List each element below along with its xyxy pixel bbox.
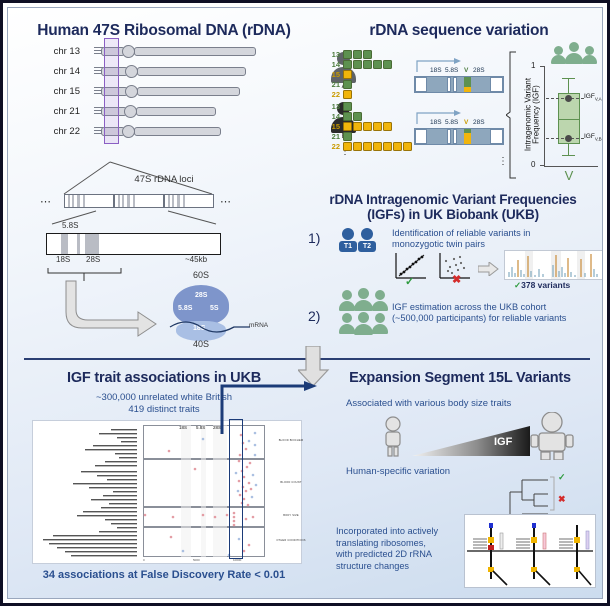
igf-va-point (565, 95, 572, 102)
trait-name-labels (37, 425, 141, 557)
panel-igf-title-2: (IGFs) in UK Biobank (UKB) (300, 207, 603, 222)
traits-scatter-plot: 18S 5.8S 28S (32, 420, 302, 564)
igf-label-sub: V,A (595, 96, 602, 101)
unit-label-18S: 18S (430, 67, 442, 74)
association-dots (143, 425, 265, 557)
result-count-text: 378 variants (521, 280, 570, 290)
loci-label: 47S rDNA loci (16, 174, 312, 185)
step-1-text: Identification of reliable variants in m… (392, 228, 602, 250)
es15l-line-3a: Incorporated into actively (336, 526, 466, 538)
twin-pair-icon: T1 T2 (338, 228, 386, 254)
cohort-people-icon (552, 42, 600, 64)
step-1-line-1: Identification of reliable variants in (392, 228, 602, 239)
grid-chr-num: 21 (328, 132, 340, 141)
variant-grid-person-a: 13 14 15 21 22 (338, 50, 408, 100)
igf-wedge-label: IGF (494, 436, 512, 448)
step-2-line-2: (~500,000 participants) for reliable var… (392, 313, 603, 324)
twin-concordance-good-plot: ✓ (392, 251, 432, 283)
chromosome-ideograms: chr 13 chr 14 chr 15 chr 21 chr 22 (16, 42, 312, 162)
panel-rdna-title: Human 47S Ribosomal DNA (rDNA) (16, 14, 312, 40)
igf-gradient-wedge (412, 426, 532, 460)
chr-label: chr 22 (36, 126, 80, 137)
category-label-blood-biochem: BLOOD BIOCHEM (267, 439, 315, 442)
rdna-unit-map-b: 18S 5.8S V 28S (414, 110, 504, 150)
category-label-body-size: BODY SIZE (267, 514, 315, 517)
igf-vb-point (565, 135, 572, 142)
step-2-line-1: IGF estimation across the UKB cohort (392, 302, 603, 313)
igf-boxplot: Intragenomic Variant Frequency (IGF) 1 0 (522, 42, 603, 190)
es15l-line-3c: with predicted 2D rRNA (336, 549, 466, 561)
rrna-2d-structure-inset (464, 514, 596, 588)
figure-canvas: Human 47S Ribosomal DNA (rDNA) chr 13 ch… (7, 7, 603, 599)
boxplot-ylabel: Intragenomic Variant Frequency (IGF) (520, 64, 534, 172)
label-40S: 40S (156, 339, 246, 349)
xtick-5000: 5000 (193, 558, 200, 562)
es15l-line-3d: structure changes (336, 561, 466, 573)
boxplot-yaxis (544, 66, 545, 166)
chr-label: chr 21 (36, 106, 80, 117)
panel-rdna: Human 47S Ribosomal DNA (rDNA) chr 13 ch… (16, 14, 312, 354)
panel-variation-title: rDNA sequence variation (314, 14, 603, 40)
ribosome-diagram: 60S 28S 5.8S 5S 18S mRNA 40S (156, 269, 266, 355)
boxplot-xtick: V (558, 168, 580, 183)
cohort-crowd-icon (338, 288, 392, 340)
rdna-unit-map-a: 18S 5.8S V 28S (414, 58, 504, 98)
unit-label-18S: 18S (430, 119, 442, 126)
small-person-icon (378, 416, 408, 464)
large-person-icon (530, 412, 574, 460)
grid-chr-num: 15 (328, 70, 340, 79)
es15l-line-3b: translating ribosomes, (336, 538, 466, 550)
es15l-highlight-box (229, 419, 243, 559)
step-2-number: 2) (308, 308, 338, 338)
grid-chr-num: 15 (328, 122, 340, 131)
grid-chr-num: 14 (328, 60, 340, 69)
tree-check-icon: ✓ (558, 472, 566, 483)
igf-va-label: IGFV,A (584, 93, 602, 101)
unit-label-28S: 28S (473, 119, 485, 126)
arrow-to-result-icon (478, 262, 500, 276)
boxplot-median (558, 119, 580, 120)
igf-vb-label: IGFV,B (584, 133, 602, 141)
chr-label: chr 14 (36, 66, 80, 77)
step-2-text: IGF estimation across the UKB cohort (~5… (392, 302, 603, 324)
ytick-1: 1 (531, 61, 535, 70)
bad-cross-icon: ✖ (452, 273, 461, 286)
grid-chr-num: 22 (328, 90, 340, 99)
step-1-line-2: monozygotic twin pairs (392, 239, 602, 250)
ellipsis-right: ⋯ (220, 195, 232, 208)
grid-chr-num: 22 (328, 142, 340, 151)
igf-label-text: IGF (584, 93, 595, 100)
igf-label-text: IGF (584, 133, 595, 140)
category-label-other-conditions: OTHER CONDITIONS (267, 539, 315, 542)
good-check-icon: ✓ (405, 275, 414, 288)
chr-label: chr 13 (36, 46, 80, 57)
twin-label-t2: T2 (358, 241, 376, 252)
ellipsis-left: ⋯ (40, 195, 52, 208)
label-5.8S: 5.8S (62, 221, 78, 230)
rdna-region-highlight (104, 38, 119, 144)
es15l-line-1: Associated with various body size traits (346, 398, 586, 409)
igf-label-sub: V,B (595, 136, 602, 141)
unit-label-5.8S: 5.8S (445, 119, 458, 126)
panel-sequence-variation: rDNA sequence variation A B ⋮ 13 14 15 2… (314, 14, 603, 192)
chr-label: chr 15 (36, 86, 80, 97)
traits-caption: 34 associations at False Discovery Rate … (16, 569, 312, 581)
es15l-connector-arrow (218, 380, 318, 434)
ylabel-line2: Frequency (IGF) (532, 85, 541, 144)
unit-label-V: V (464, 119, 468, 126)
panel-igf-ukb: rDNA Intragenomic Variant Frequencies (I… (300, 188, 603, 348)
ellipsis-more-units: ⋮ (498, 156, 508, 167)
tree-cross-icon: ✖ (558, 494, 566, 505)
rdna-unit-schematic: 5.8S 18S 28S ~45kb (46, 222, 221, 262)
body-size-illustration: IGF (372, 412, 572, 460)
variant-frequency-track (504, 250, 603, 280)
unit-label-5.8S: 5.8S (445, 67, 458, 74)
panel-igf-title-1: rDNA Intragenomic Variant Frequencies (300, 188, 603, 207)
unit-label-V: V (464, 67, 468, 74)
reliable-variants-result: ✓378 variants (514, 280, 570, 291)
xtick-0: 0 (143, 558, 145, 562)
grid-chr-num: 13 (328, 102, 340, 111)
step-1-number: 1) (308, 230, 338, 260)
panel-es15l: Expansion Segment 15L Variants Associate… (314, 364, 603, 599)
ytick-0: 0 (531, 160, 535, 169)
unit-label-28S: 28S (473, 67, 485, 74)
es15l-line-3: Incorporated into actively translating r… (336, 526, 466, 572)
grid-chr-num: 21 (328, 80, 340, 89)
grid-chr-num: 13 (328, 50, 340, 59)
panel-es15l-title: Expansion Segment 15L Variants (314, 364, 603, 386)
twin-concordance-bad-plot: ✖ (436, 251, 476, 283)
category-label-blood-count: BLOOD COUNT (267, 481, 315, 484)
label-mRNA: mRNA (249, 322, 268, 329)
graphical-abstract: Human 47S Ribosomal DNA (rDNA) chr 13 ch… (0, 0, 610, 606)
grid-chr-num: 14 (328, 112, 340, 121)
twin-label-t1: T1 (339, 241, 357, 252)
boxplot-whisker-upper (568, 78, 569, 93)
